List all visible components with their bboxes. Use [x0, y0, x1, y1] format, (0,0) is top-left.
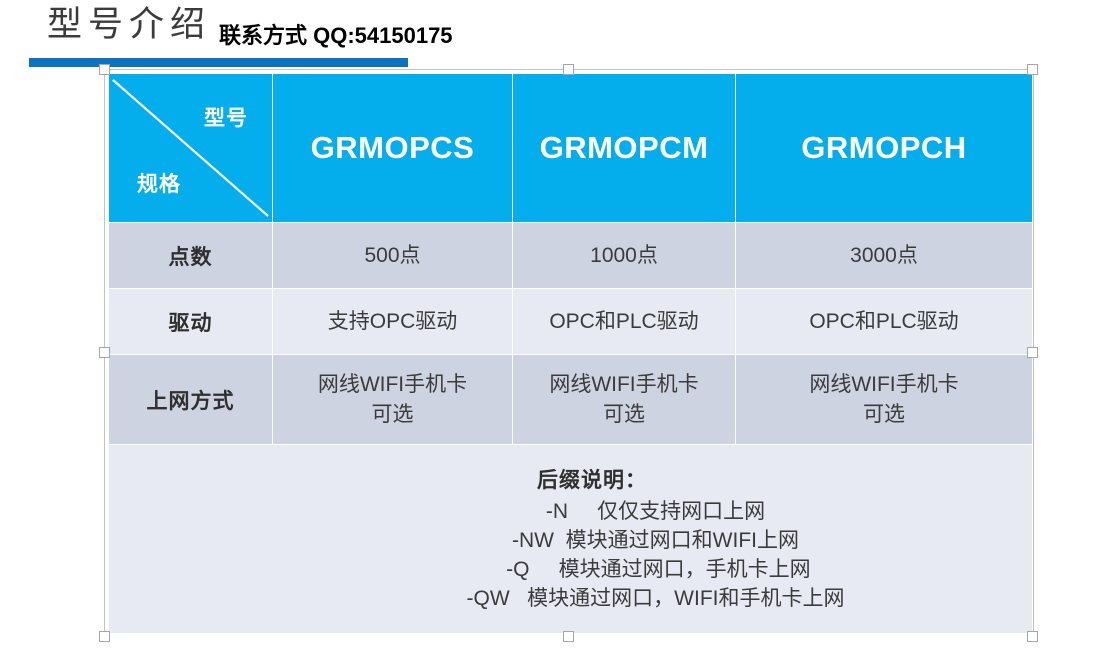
row-label-driver: 驱动 [109, 289, 273, 355]
spec-table-container[interactable]: 型号 规格 GRMOPCS GRMOPCM GRMOPCH 点数 500点 10… [108, 73, 1032, 632]
resize-handle-top-right[interactable] [1027, 64, 1038, 75]
cell-driver-grmopch: OPC和PLC驱动 [736, 289, 1033, 355]
cell-network-grmopcs: 网线WIFI手机卡 可选 [273, 355, 513, 445]
cell-network-grmopcm: 网线WIFI手机卡 可选 [513, 355, 736, 445]
spec-table[interactable]: 型号 规格 GRMOPCS GRMOPCM GRMOPCH 点数 500点 10… [108, 73, 1033, 634]
table-row: 驱动 支持OPC驱动 OPC和PLC驱动 OPC和PLC驱动 [109, 289, 1033, 355]
cell-points-grmopcm: 1000点 [513, 223, 736, 289]
resize-handle-top-center[interactable] [563, 64, 574, 75]
suffix-note-qw: -QW 模块通过网口，WIFI和手机卡上网 [279, 584, 1032, 613]
resize-handle-bottom-center[interactable] [563, 631, 574, 642]
title-underline-bar [29, 58, 408, 67]
table-row: 点数 500点 1000点 3000点 [109, 223, 1033, 289]
row-label-network: 上网方式 [109, 355, 273, 445]
corner-label-model: 型号 [204, 102, 248, 132]
suffix-notes-title: 后缀说明： [152, 465, 1032, 497]
resize-handle-bottom-left[interactable] [99, 631, 110, 642]
diagonal-divider-icon [109, 74, 272, 222]
column-header-grmopch: GRMOPCH [736, 74, 1033, 223]
cell-network-grmopch: 网线WIFI手机卡 可选 [736, 355, 1033, 445]
table-corner-cell: 型号 规格 [109, 74, 273, 223]
cell-points-grmopcs: 500点 [273, 223, 513, 289]
suffix-note-q: -Q 模块通过网口，手机卡上网 [279, 555, 1032, 584]
table-row: 上网方式 网线WIFI手机卡 可选 网线WIFI手机卡 可选 网线WIFI手机卡… [109, 355, 1033, 445]
corner-label-spec: 规格 [137, 168, 181, 198]
cell-points-grmopch: 3000点 [736, 223, 1033, 289]
suffix-note-nw: -NW 模块通过网口和WIFI上网 [279, 526, 1032, 555]
row-label-points: 点数 [109, 223, 273, 289]
column-header-grmopcm: GRMOPCM [513, 74, 736, 223]
column-header-grmopcs: GRMOPCS [273, 74, 513, 223]
resize-handle-middle-left[interactable] [99, 347, 110, 358]
resize-handle-bottom-right[interactable] [1027, 631, 1038, 642]
slide-header: 型号介绍 联系方式 QQ:54150175 [0, 0, 1117, 70]
suffix-notes-cell: 后缀说明： -N 仅仅支持网口上网 -NW 模块通过网口和WIFI上网 -Q 模… [109, 445, 1033, 634]
resize-handle-top-left[interactable] [99, 64, 110, 75]
table-header-row: 型号 规格 GRMOPCS GRMOPCM GRMOPCH [109, 74, 1033, 223]
contact-subtitle: 联系方式 QQ:54150175 [219, 21, 453, 51]
table-notes-row: 后缀说明： -N 仅仅支持网口上网 -NW 模块通过网口和WIFI上网 -Q 模… [109, 445, 1033, 634]
suffix-note-n: -N 仅仅支持网口上网 [279, 497, 1032, 526]
page-title: 型号介绍 [47, 2, 211, 48]
resize-handle-middle-right[interactable] [1027, 347, 1038, 358]
cell-driver-grmopcs: 支持OPC驱动 [273, 289, 513, 355]
cell-driver-grmopcm: OPC和PLC驱动 [513, 289, 736, 355]
